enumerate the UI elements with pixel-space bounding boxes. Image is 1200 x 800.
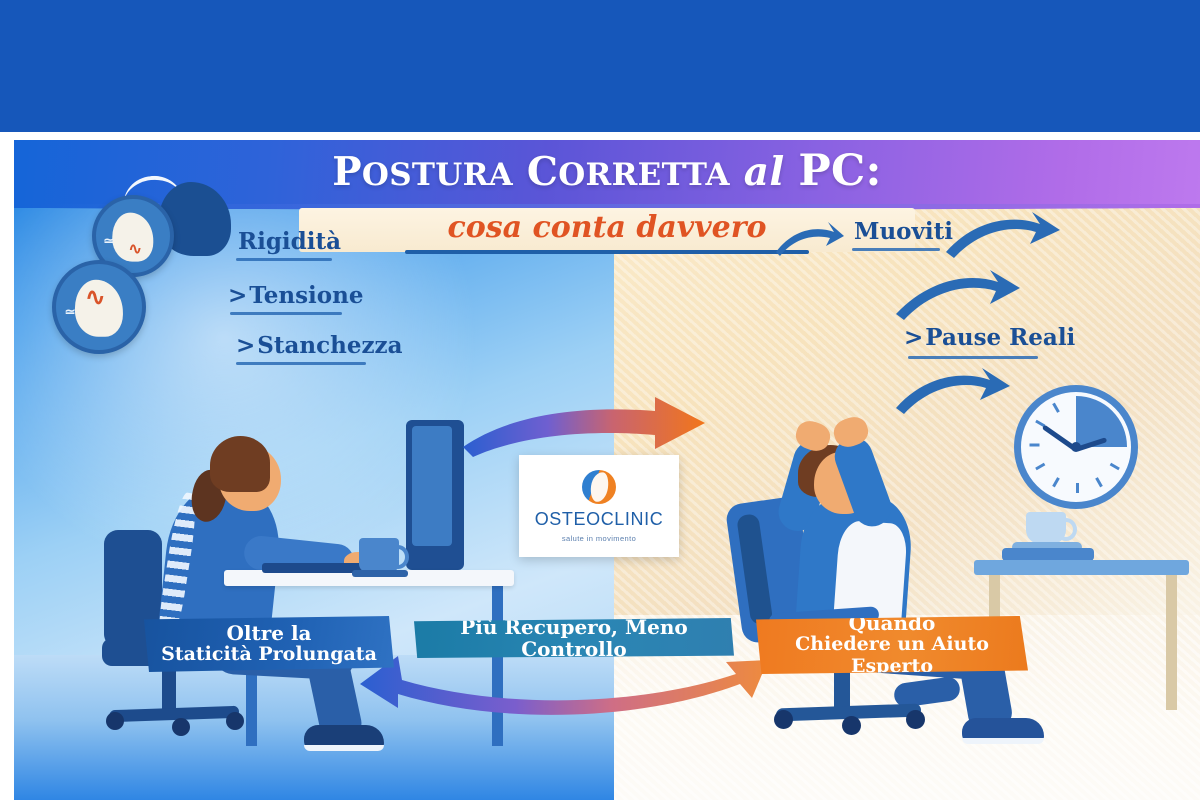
- tip-text: Pause Reali: [925, 324, 1075, 351]
- title-text-postura: P: [332, 149, 362, 195]
- pain-zigzag: ∿: [85, 283, 105, 312]
- logo-mark-icon: [582, 470, 616, 504]
- chair-wheel: [226, 712, 244, 730]
- symptom-label-stanchezza: >Stanchezza: [236, 332, 403, 359]
- clock-tick: [1110, 463, 1120, 471]
- arrow-coffee-icon: [894, 368, 1012, 416]
- chair-wheel: [906, 710, 925, 729]
- coffee-cup-icon: [1026, 512, 1066, 544]
- chevron-icon: >: [904, 324, 923, 351]
- symptom-underline: [230, 312, 342, 315]
- tip-underline: [908, 356, 1038, 359]
- symptom-text: Stanchezza: [257, 332, 402, 359]
- banner-left-line2: Staticità Prolungata: [161, 644, 377, 666]
- infographic-canvas: POSTURA CORRETTA al PC: cosa conta davve…: [14, 140, 1200, 800]
- bottom-cycle-arrow-icon: [354, 650, 794, 730]
- symptom-underline: [236, 362, 366, 365]
- symptom-label-rigidita: Rigidità: [236, 228, 341, 255]
- pain-zigzag: ∿: [129, 239, 142, 259]
- arrow-muoviti-out-icon: [944, 212, 1062, 260]
- banner-mid-line1: Più Recupero, Meno Controllo: [414, 616, 734, 661]
- right-desk-surface: [974, 560, 1189, 575]
- arrow-muoviti-in-icon: [774, 220, 844, 260]
- right-person-shoe: [962, 718, 1044, 744]
- clock-tick: [1035, 463, 1045, 471]
- right-desk-leg: [1166, 575, 1177, 710]
- top-blue-band: [0, 0, 1200, 132]
- symptom-underline: [236, 258, 332, 261]
- logo-tagline: salute in movimento: [562, 534, 636, 543]
- title-text-orretta: ORRETTA: [558, 157, 730, 193]
- chevron-icon: >: [228, 282, 247, 309]
- clock-tick: [1116, 444, 1126, 447]
- title-text-al: al: [744, 149, 785, 195]
- clock-tick: [1095, 477, 1103, 487]
- zzz-glyph: ≃: [65, 304, 76, 320]
- symptom-label-tensione: >Tensione: [228, 282, 364, 309]
- clock-tick: [1030, 444, 1040, 447]
- coffee-mug-icon: [359, 538, 399, 572]
- banner-left[interactable]: Oltre la Staticità Prolungata: [144, 616, 394, 672]
- title-text-pc: PC:: [798, 146, 881, 196]
- tip-label-pause-reali: >Pause Reali: [904, 324, 1075, 351]
- clock-tick: [1076, 397, 1079, 407]
- clock-tick: [1076, 483, 1079, 493]
- chair-wheel: [172, 718, 190, 736]
- osteoclinic-logo: OSTEOCLINIC salute in movimento: [519, 455, 679, 557]
- infographic-page: POSTURA CORRETTA al PC: cosa conta davve…: [0, 0, 1200, 800]
- chair-wheel: [842, 716, 861, 735]
- tip-underline: [852, 248, 940, 251]
- head-fatigue-icon: ∿ ≃: [52, 260, 146, 354]
- chair-wheel: [106, 712, 124, 730]
- tip-label-muoviti: Muoviti: [852, 218, 953, 245]
- frame-gap-top: [0, 132, 1200, 140]
- clock-tick: [1052, 477, 1060, 487]
- monitor-icon: [406, 420, 464, 570]
- tip-text: Muoviti: [854, 218, 953, 245]
- banner-left-line1: Oltre la: [226, 622, 311, 644]
- clock-center-pin: [1071, 442, 1081, 452]
- symptom-text: Rigidità: [238, 228, 341, 255]
- title-text-c: C: [527, 149, 558, 195]
- chevron-icon: >: [236, 332, 255, 359]
- frame-gap-left: [0, 132, 14, 800]
- zzz-glyph: ≃: [103, 233, 114, 249]
- wall-clock-icon: [1014, 385, 1138, 509]
- left-person-hair: [210, 436, 270, 492]
- mug-coaster: [352, 570, 408, 577]
- symptom-text: Tensione: [249, 282, 363, 309]
- banner-right[interactable]: Quando Chiedere un Aiuto Esperto: [756, 616, 1028, 674]
- arrow-pause-in-icon: [894, 270, 1022, 322]
- logo-name: OSTEOCLINIC: [535, 509, 664, 530]
- clock-tick: [1052, 403, 1060, 413]
- banner-mid[interactable]: Più Recupero, Meno Controllo: [414, 618, 734, 658]
- title-text-ostura: OSTURA: [362, 157, 513, 193]
- transition-arrow-icon: [459, 395, 709, 457]
- subtitle-underline: [405, 250, 808, 254]
